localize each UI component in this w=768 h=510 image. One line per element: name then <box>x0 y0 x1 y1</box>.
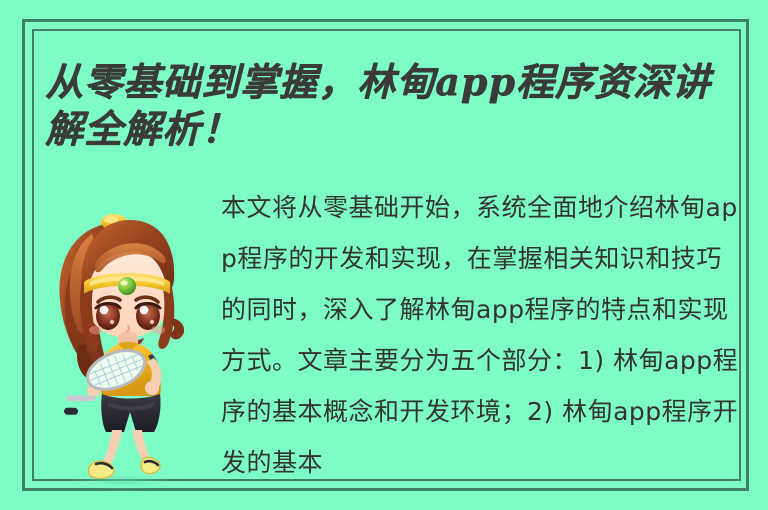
eye-right-spark <box>150 320 154 324</box>
hand-right <box>145 381 159 395</box>
headband-emblem <box>118 277 136 295</box>
eye-left-spark <box>110 320 114 324</box>
cheek-left <box>89 326 103 335</box>
badminton-girl-illustration <box>44 196 192 492</box>
eye-left-highlight <box>100 306 109 315</box>
poster-canvas: 从零基础到掌握，林甸app程序资深讲解全解析！ <box>0 0 768 510</box>
article-body-text: 本文将从零基础开始，系统全面地介绍林甸app程序的开发和实现，在掌握相关知识和技… <box>221 182 741 488</box>
shorts <box>101 394 160 432</box>
eye-right-highlight <box>140 306 149 315</box>
page-title: 从零基础到掌握，林甸app程序资深讲解全解析！ <box>45 58 745 152</box>
cheek-right <box>151 326 165 335</box>
headband-emblem-shine <box>120 281 127 286</box>
